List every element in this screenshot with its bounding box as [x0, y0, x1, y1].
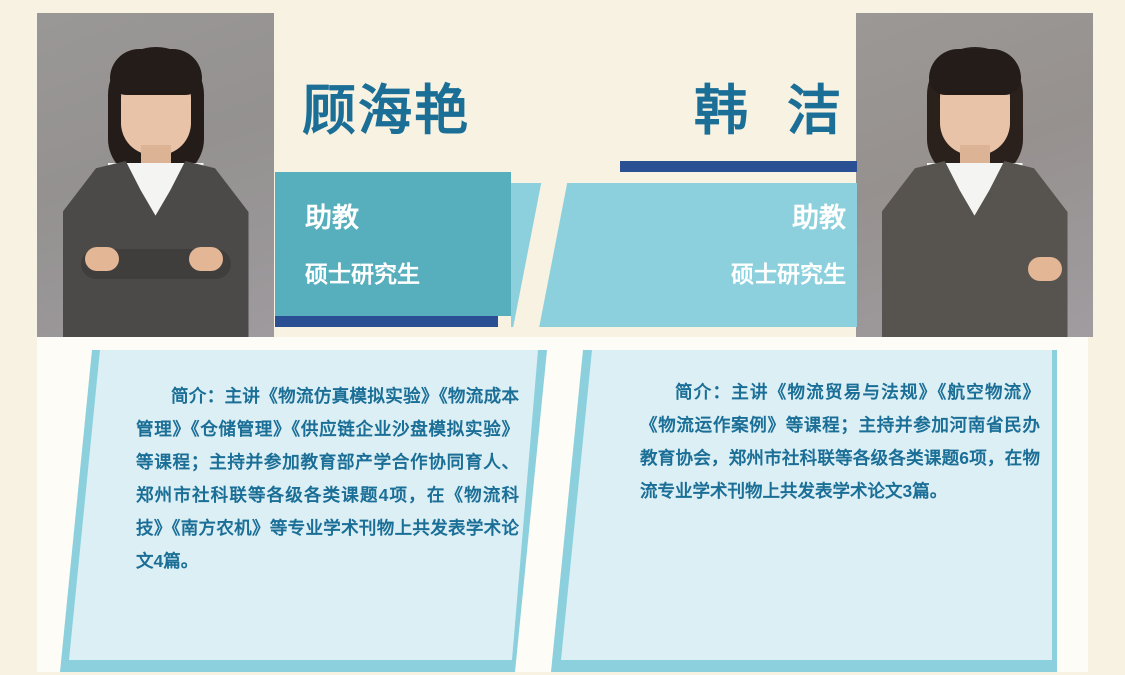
right-margin: [1088, 0, 1125, 675]
accent-rule-left: [275, 316, 498, 327]
figure-fringe: [929, 49, 1021, 95]
left-margin: [0, 0, 37, 675]
teacher-degree-left: 硕士研究生: [305, 255, 420, 289]
bio-text-right: 简介：主讲《物流贸易与法规》《航空物流》《物流运作案例》等课程；主持并参加河南省…: [640, 376, 1040, 508]
figure-hand-right: [1028, 257, 1062, 281]
figure-fringe: [110, 49, 202, 95]
teacher-title-right: 助教: [792, 196, 846, 235]
bio-card-right: 简介：主讲《物流贸易与法规》《航空物流》《物流运作案例》等课程；主持并参加河南省…: [540, 350, 1057, 672]
teacher-degree-right: 硕士研究生: [731, 255, 846, 289]
teacher-profile-card: 顾海艳 韩 洁 助教 硕士研究生 助教 硕士研究生 简介：主讲《物流仿真模拟实验…: [0, 0, 1125, 675]
figure-hand-right: [189, 247, 223, 271]
profile-photo-right: [856, 13, 1093, 337]
title-banner-left: [275, 172, 511, 316]
accent-rule-right: [620, 161, 857, 172]
profile-photo-left: [37, 13, 274, 337]
photo-figure: [37, 13, 274, 337]
photo-figure: [856, 13, 1093, 337]
figure-hand-left: [85, 247, 119, 271]
bio-card-left: 简介：主讲《物流仿真模拟实验》《物流成本管理》《仓储管理》《供应链企业沙盘模拟实…: [60, 350, 547, 672]
bio-text-left: 简介：主讲《物流仿真模拟实验》《物流成本管理》《仓储管理》《供应链企业沙盘模拟实…: [136, 380, 519, 578]
teacher-title-left: 助教: [305, 196, 359, 235]
teacher-name-left: 顾海艳: [302, 66, 470, 145]
teacher-name-right: 韩 洁: [694, 66, 853, 145]
